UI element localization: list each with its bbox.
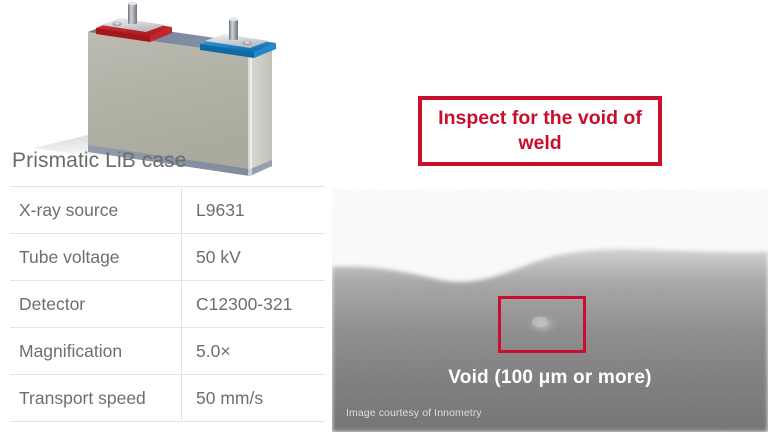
spec-label: Detector (10, 281, 182, 328)
left-panel: Prismatic LiB case X-ray source L9631 Tu… (0, 0, 332, 432)
spec-value: 50 mm/s (182, 375, 326, 422)
inspection-callout-text: Inspect for the void of weld (422, 106, 658, 157)
specification-table: X-ray source L9631 Tube voltage 50 kV De… (10, 186, 325, 422)
spec-label: Tube voltage (10, 234, 182, 281)
void-annotation-rectangle (498, 296, 586, 353)
void-caption: Void (100 μm or more) (332, 367, 768, 389)
xray-weld-image: Void (100 μm or more) Image courtesy of … (332, 189, 768, 432)
spec-label: Magnification (10, 328, 182, 375)
table-row: X-ray source L9631 (10, 187, 325, 234)
page-title: Prismatic LiB case (12, 149, 187, 173)
table-row: Tube voltage 50 kV (10, 234, 325, 281)
spec-value: C12300-321 (182, 281, 326, 328)
spec-label: Transport speed (10, 375, 182, 422)
table-row: Detector C12300-321 (10, 281, 325, 328)
spec-value: 50 kV (182, 234, 326, 281)
spec-value: L9631 (182, 187, 326, 234)
spec-label: X-ray source (10, 187, 182, 234)
right-panel: Inspect for the void of weld (332, 0, 768, 432)
image-credit: Image courtesy of Innometry (346, 407, 482, 419)
spec-value: 5.0× (182, 328, 326, 375)
table-row: Transport speed 50 mm/s (10, 375, 325, 422)
inspection-callout-box: Inspect for the void of weld (418, 96, 662, 166)
table-row: Magnification 5.0× (10, 328, 325, 375)
